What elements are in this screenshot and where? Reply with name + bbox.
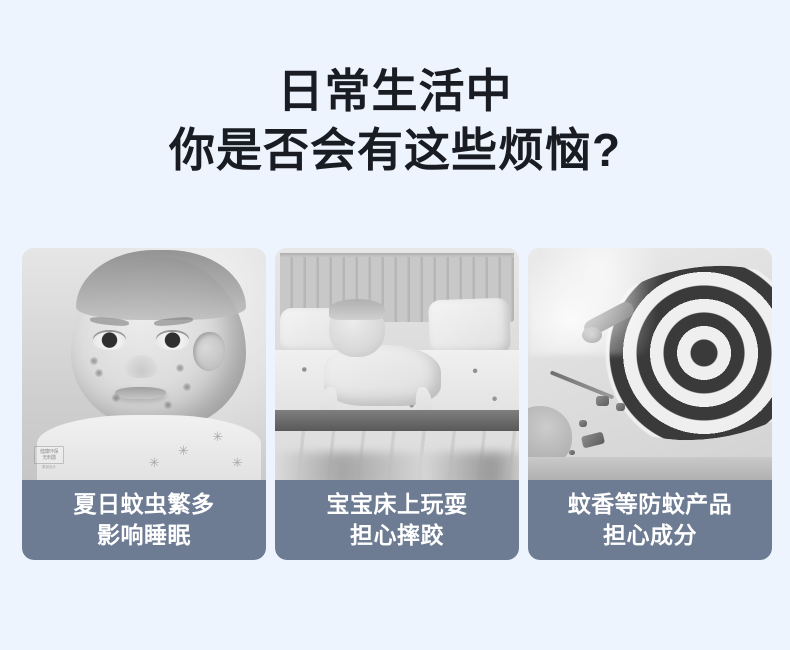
headline-line-2: 你是否会有这些烦恼? — [0, 120, 790, 180]
card-3-caption-line-1: 蚊香等防蚊产品 — [568, 489, 733, 520]
problem-card-2[interactable]: 宝宝床上玩耍 担心摔跤 — [275, 248, 519, 560]
problem-card-row: ✳ ✳ ✳ ✳ 健康环保 无刺激 原创设计 夏日蚊虫繁多 影响睡眠 — [22, 248, 772, 560]
problem-card-3[interactable]: 蚊香等防蚊产品 担心成分 — [528, 248, 772, 560]
problem-card-1[interactable]: ✳ ✳ ✳ ✳ 健康环保 无刺激 原创设计 夏日蚊虫繁多 影响睡眠 — [22, 248, 266, 560]
watermark-line-2: 无刺激 — [36, 455, 62, 461]
card-3-caption: 蚊香等防蚊产品 担心成分 — [528, 480, 772, 560]
card-2-caption-line-2: 担心摔跤 — [350, 520, 444, 551]
card-1-photo-baby-bites: ✳ ✳ ✳ ✳ 健康环保 无刺激 原创设计 — [22, 248, 266, 480]
card-3-caption-line-2: 担心成分 — [603, 520, 697, 551]
photo-watermark: 健康环保 无刺激 原创设计 — [34, 446, 64, 470]
card-1-caption-line-1: 夏日蚊虫繁多 — [74, 489, 215, 520]
watermark-subtext: 原创设计 — [34, 465, 64, 470]
page-headline: 日常生活中 你是否会有这些烦恼? — [0, 62, 790, 180]
card-2-caption: 宝宝床上玩耍 担心摔跤 — [275, 480, 519, 560]
card-1-caption-line-2: 影响睡眠 — [97, 520, 191, 551]
card-2-photo-baby-bed-edge — [275, 248, 519, 480]
headline-line-1: 日常生活中 — [0, 62, 790, 120]
card-3-photo-mosquito-coil — [528, 248, 772, 480]
card-1-caption: 夏日蚊虫繁多 影响睡眠 — [22, 480, 266, 560]
card-2-caption-line-1: 宝宝床上玩耍 — [327, 489, 468, 520]
